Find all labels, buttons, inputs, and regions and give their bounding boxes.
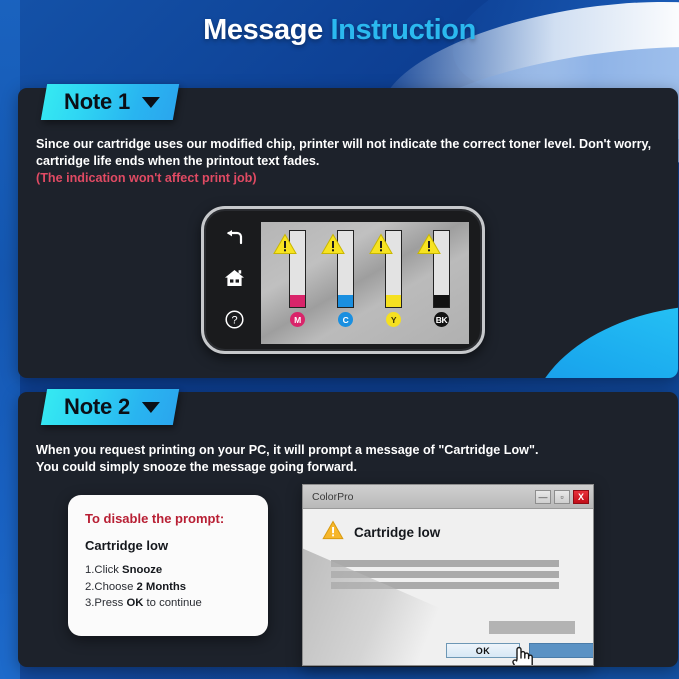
maximize-icon[interactable]: ▫ xyxy=(554,490,570,504)
dialog-title: ColorPro xyxy=(312,491,532,503)
help-icon[interactable]: ? xyxy=(225,310,244,334)
svg-text:?: ? xyxy=(231,315,237,327)
toner-label-black: BK xyxy=(434,312,449,327)
page-title-part1: Message xyxy=(203,14,323,46)
disable-prompt-card: To disable the prompt: Cartridge low 1.C… xyxy=(68,495,268,636)
toner-fill xyxy=(290,295,305,307)
warning-triangle-icon xyxy=(273,233,297,260)
note1-panel: Since our cartridge uses our modified ch… xyxy=(18,88,678,378)
note1-badge-label: Note 1 xyxy=(64,89,130,115)
note2-paragraph-line1: When you request printing on your PC, it… xyxy=(36,442,664,459)
dialog-titlebar: ColorPro — ▫ X xyxy=(303,485,593,509)
panel-cyan-corner-swoosh xyxy=(528,305,678,378)
dialog-header-row: Cartridge low xyxy=(303,509,593,545)
toner-fill xyxy=(338,295,353,307)
step-bold: OK xyxy=(126,597,143,609)
toner-level-row: M xyxy=(261,222,469,344)
note1-badge[interactable]: Note 1 xyxy=(41,84,179,120)
toner-gauge-magenta: M xyxy=(273,230,313,327)
page-title-part2: Instruction xyxy=(330,14,475,46)
placeholder-bar xyxy=(331,582,559,589)
step-bold: Snooze xyxy=(122,564,162,576)
warning-triangle-icon xyxy=(321,233,345,260)
printer-screen: M xyxy=(261,222,469,344)
step-number: 1. xyxy=(85,564,94,576)
step-pre: Choose xyxy=(94,581,136,593)
dialog-placeholder-bars xyxy=(303,560,593,589)
toner-fill xyxy=(434,295,449,307)
toner-gauge-yellow: Y xyxy=(369,230,409,327)
minimize-icon[interactable]: — xyxy=(535,490,551,504)
close-icon[interactable]: X xyxy=(573,490,589,504)
warning-triangle-icon xyxy=(322,520,344,545)
hand-cursor-icon xyxy=(510,645,534,666)
toner-gauge-black: BK xyxy=(417,230,457,327)
printer-icon-strip: ? xyxy=(217,221,251,343)
chevron-down-icon xyxy=(142,402,160,413)
secondary-button[interactable] xyxy=(529,643,594,658)
dialog-body: Cartridge low OK xyxy=(303,509,593,666)
note2-text-block: When you request printing on your PC, it… xyxy=(36,442,664,476)
toner-label-cyan: C xyxy=(338,312,353,327)
tip-card-subtitle: Cartridge low xyxy=(85,538,251,553)
tip-card-step: 2.Choose 2 Months xyxy=(85,579,251,596)
toner-fill xyxy=(386,295,401,307)
back-arrow-icon[interactable] xyxy=(225,230,244,251)
toner-label-yellow: Y xyxy=(386,312,401,327)
home-icon[interactable] xyxy=(224,269,245,292)
page-header: Message Instruction xyxy=(0,14,679,47)
printer-control-panel: ? xyxy=(201,206,485,354)
tip-card-step: 3.Press OK to continue xyxy=(85,595,251,612)
placeholder-bar xyxy=(331,571,559,578)
note2-badge-label: Note 2 xyxy=(64,394,130,420)
step-post: to continue xyxy=(143,597,201,609)
page-title: Message Instruction xyxy=(0,14,679,47)
note2-paragraph-line2: You could simply snooze the message goin… xyxy=(36,459,664,476)
toner-label-magenta: M xyxy=(290,312,305,327)
toner-gauge-cyan: C xyxy=(321,230,361,327)
placeholder-bar xyxy=(331,560,559,567)
step-number: 2. xyxy=(85,581,94,593)
note1-paragraph: Since our cartridge uses our modified ch… xyxy=(36,136,664,170)
note2-badge[interactable]: Note 2 xyxy=(41,389,179,425)
warning-triangle-icon xyxy=(417,233,441,260)
step-number: 3. xyxy=(85,597,94,609)
tip-card-title: To disable the prompt: xyxy=(85,511,251,526)
note1-sub-note: (The indication won't affect print job) xyxy=(36,170,664,187)
cartridge-low-dialog: ColorPro — ▫ X Cartridge low xyxy=(302,484,594,666)
step-pre: Click xyxy=(94,564,122,576)
left-edge-stripe xyxy=(0,0,20,679)
chevron-down-icon xyxy=(142,97,160,108)
poster-canvas: Message Instruction Since our cartridge … xyxy=(0,0,679,679)
tip-card-step: 1.Click Snooze xyxy=(85,562,251,579)
ok-button[interactable]: OK xyxy=(446,643,520,658)
warning-triangle-icon xyxy=(369,233,393,260)
note1-text-block: Since our cartridge uses our modified ch… xyxy=(36,136,664,187)
dialog-message: Cartridge low xyxy=(354,525,440,540)
step-bold: 2 Months xyxy=(137,581,187,593)
step-pre: Press xyxy=(94,597,126,609)
dialog-progress-bar xyxy=(489,621,575,634)
